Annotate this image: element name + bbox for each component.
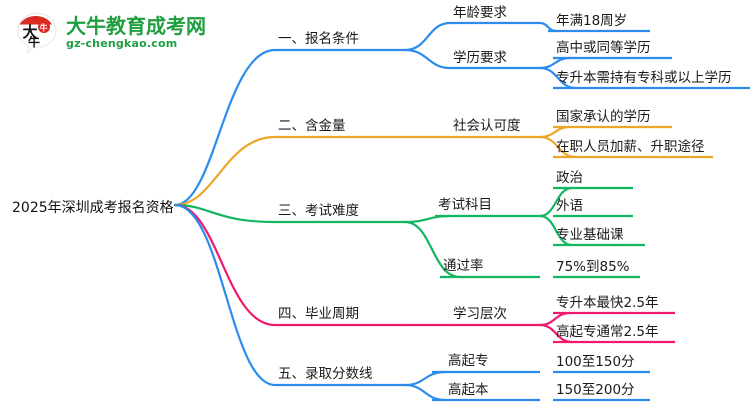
- branch-node-2[interactable]: 二、含金量: [278, 118, 346, 134]
- connector-b5-c2: [405, 385, 445, 400]
- branch-2-child-1[interactable]: 社会认可度: [453, 118, 521, 134]
- connector-b1-c1-l1: [540, 23, 556, 31]
- branch-5-child-1[interactable]: 高起专: [448, 353, 489, 369]
- connector-b5-c1: [405, 372, 445, 385]
- branch-5-child-2[interactable]: 高起本: [448, 382, 489, 398]
- branch-3-child-1[interactable]: 考试科目: [438, 197, 492, 213]
- leaf-subject-foreign-language[interactable]: 外语: [556, 198, 583, 214]
- branch-node-5[interactable]: 五、录取分数线: [278, 366, 373, 382]
- branch-node-1[interactable]: 一、报名条件: [278, 31, 359, 47]
- leaf-score-college[interactable]: 100至150分: [556, 354, 635, 370]
- branch-4-child-1[interactable]: 学习层次: [453, 306, 507, 322]
- branch-node-3[interactable]: 三、考试难度: [278, 203, 359, 219]
- branch-3-child-2[interactable]: 通过率: [443, 258, 484, 274]
- branch-1-child-1[interactable]: 年龄要求: [453, 5, 507, 21]
- connector-b1-c1: [405, 23, 450, 50]
- connector-root-b3: [175, 205, 275, 222]
- connector-root-b5: [175, 205, 275, 385]
- leaf-subject-politics[interactable]: 政治: [556, 170, 583, 186]
- leaf-upgrade-requires-college[interactable]: 专升本需持有专科或以上学历: [556, 70, 732, 86]
- connector-root-b4: [175, 205, 275, 325]
- branch-node-4[interactable]: 四、毕业周期: [278, 306, 359, 322]
- connector-b1-c2-l1: [540, 58, 570, 68]
- leaf-pass-rate[interactable]: 75%到85%: [556, 259, 630, 275]
- leaf-subject-major-basics[interactable]: 专业基础课: [556, 227, 624, 243]
- leaf-college-duration[interactable]: 高起专通常2.5年: [556, 324, 658, 340]
- branch-1-child-2[interactable]: 学历要求: [453, 50, 507, 66]
- connector-root-b2: [175, 137, 275, 205]
- leaf-score-bachelor[interactable]: 150至200分: [556, 382, 635, 398]
- leaf-salary-promotion-path[interactable]: 在职人员加薪、升职途径: [556, 139, 705, 155]
- connector-b2-c1-l1: [540, 127, 570, 137]
- leaf-highschool-equivalent[interactable]: 高中或同等学历: [556, 40, 651, 56]
- leaf-upgrade-duration[interactable]: 专升本最快2.5年: [556, 295, 658, 311]
- leaf-age-requirement[interactable]: 年满18周岁: [556, 13, 627, 29]
- connector-b1-c2: [405, 50, 450, 68]
- mindmap-root-node[interactable]: 2025年深圳成考报名资格: [12, 200, 174, 216]
- mindmap-canvas: 牛 大 牛 大牛教育成考网 gz-chengkao.com: [0, 0, 750, 410]
- connector-root-b1: [175, 50, 275, 205]
- leaf-state-recognized-degree[interactable]: 国家承认的学历: [556, 109, 651, 125]
